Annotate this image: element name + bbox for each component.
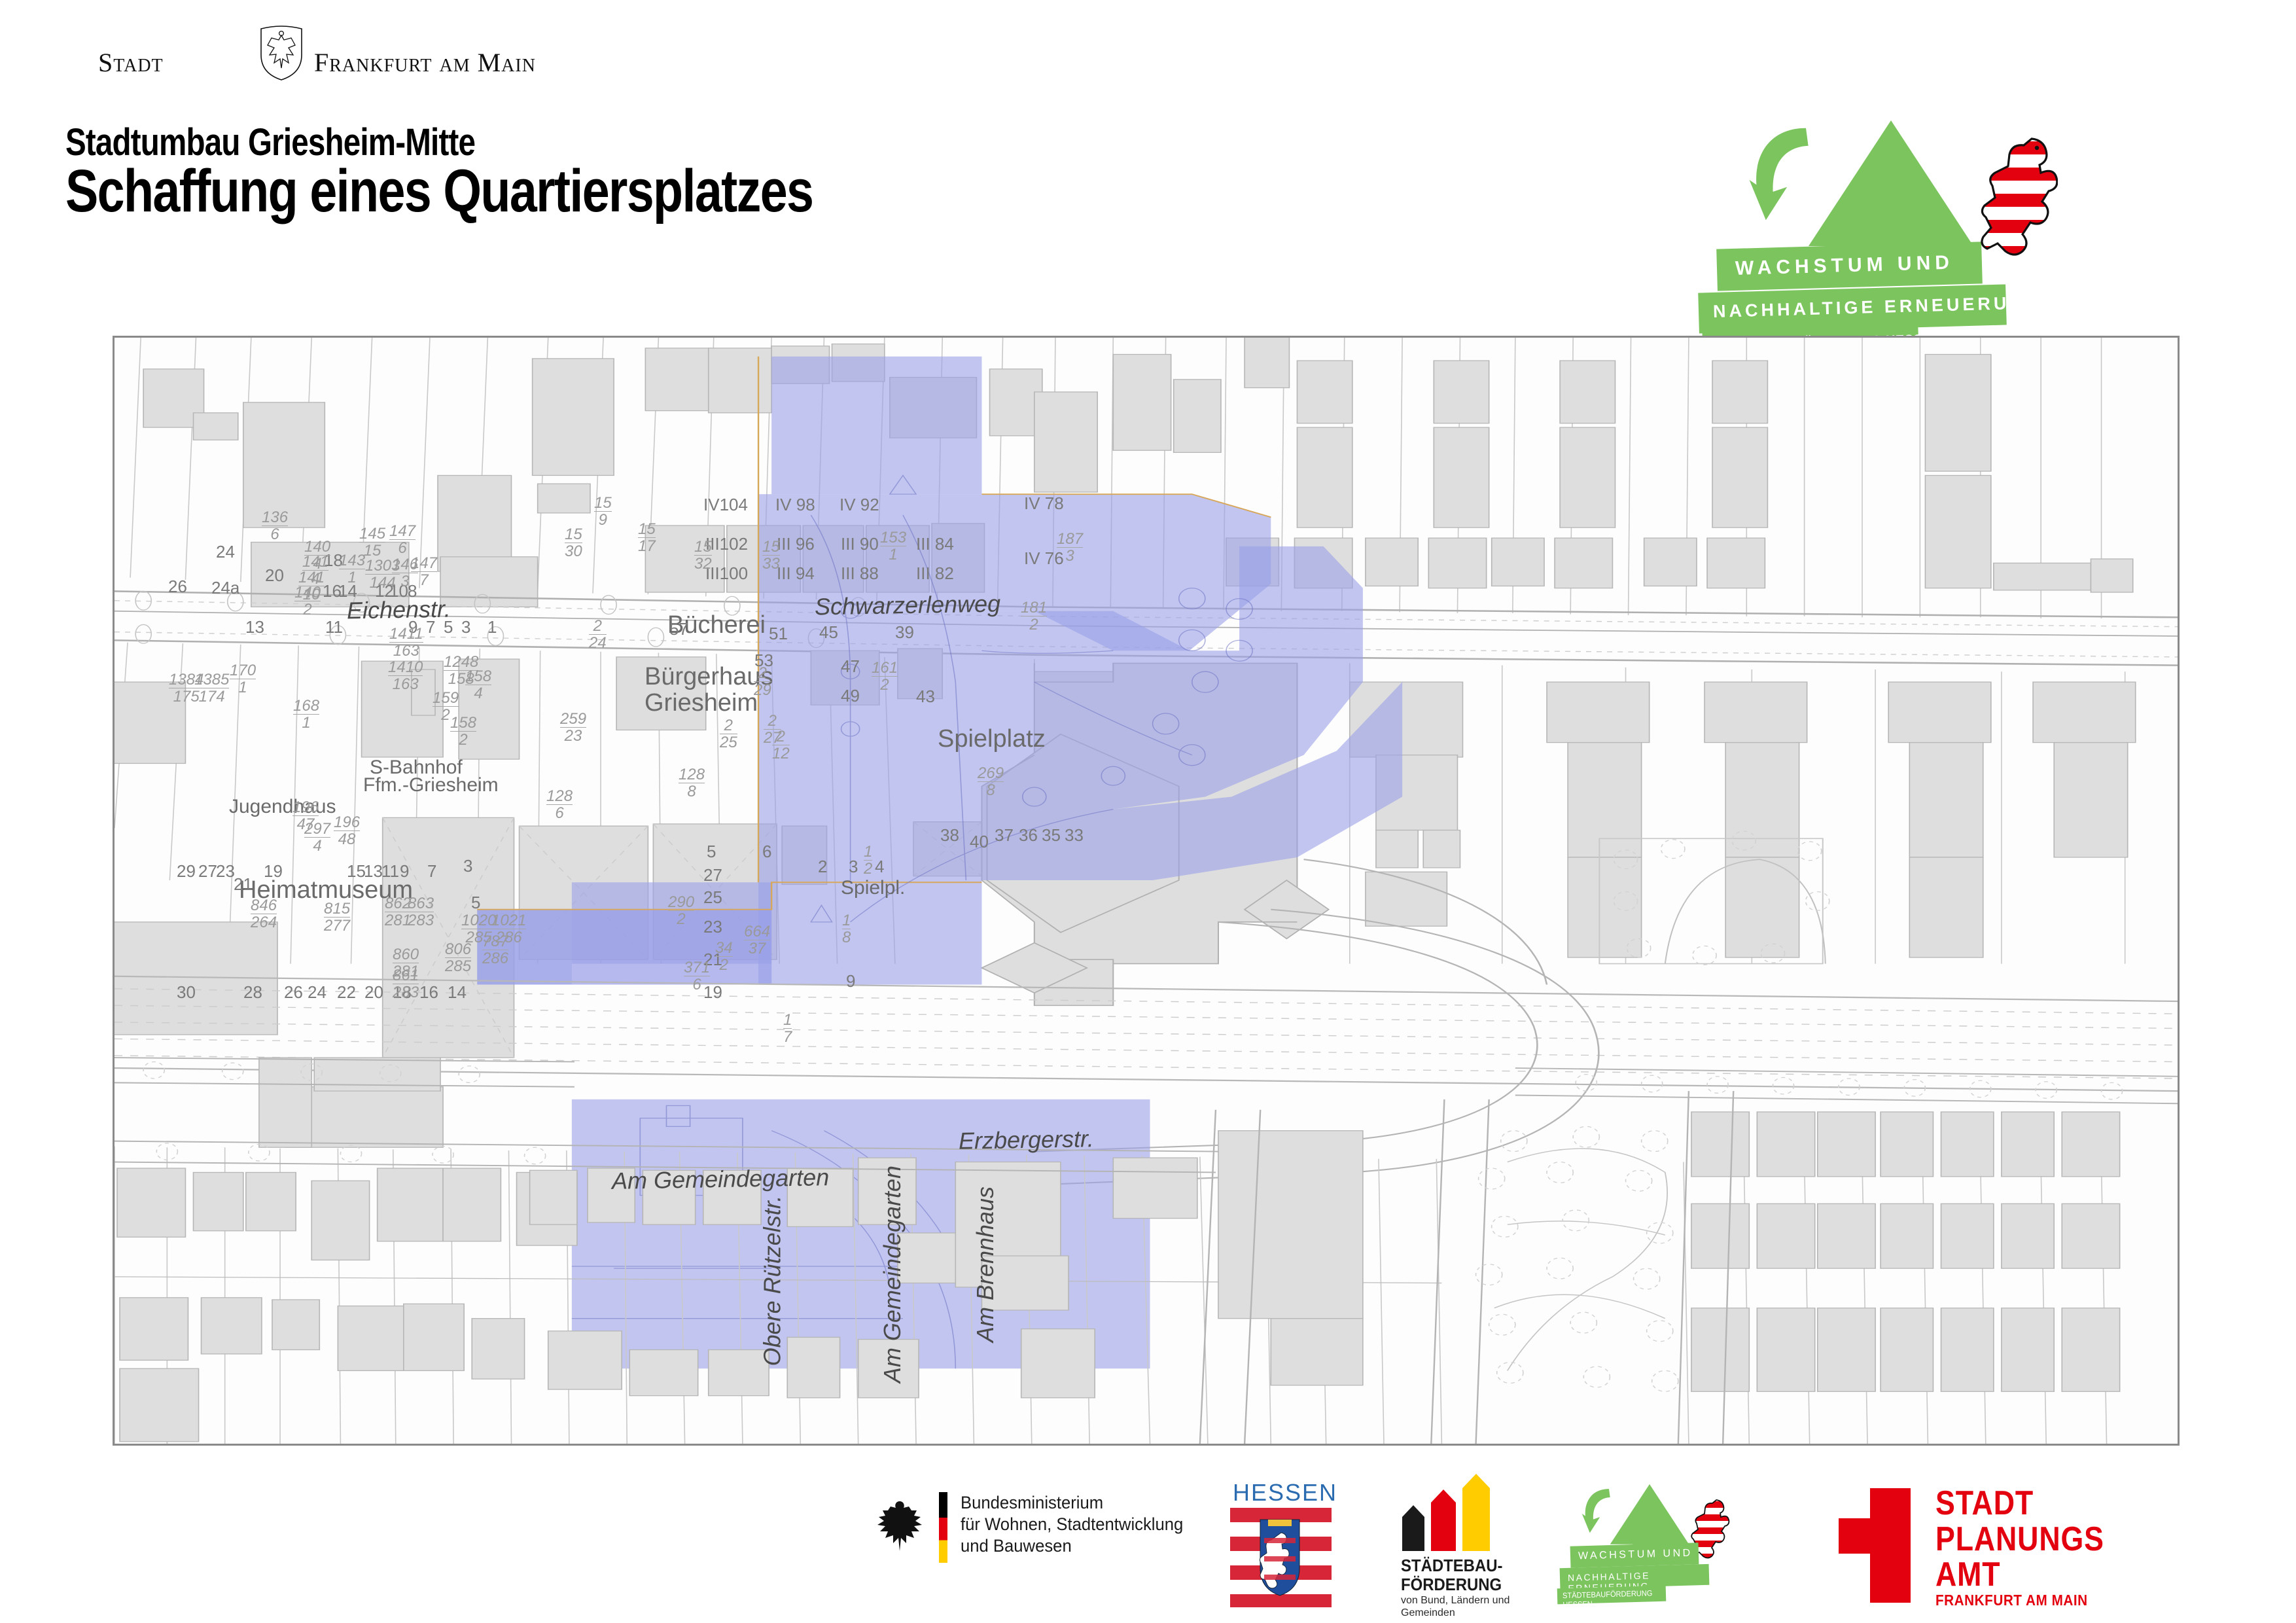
wachstum-band-2: NACHHALTIGE ERNEUERUNG (1698, 284, 2007, 333)
map-drawing (115, 338, 2178, 1444)
wachstum-band-1: WACHSTUM UND (1716, 241, 1983, 291)
staedtebau-line-1: STÄDTEBAU- (1401, 1556, 1502, 1575)
wachstum-footer-logo: WACHSTUM UND NACHHALTIGE ERNEUERUNG STÄD… (1577, 1482, 1786, 1613)
wachstum-footer-band-1: WACHSTUM UND (1570, 1543, 1699, 1567)
house-red-icon (1431, 1503, 1456, 1551)
staedtebaufoerderung-logo: STÄDTEBAU- FÖRDERUNG von Bund, Ländern u… (1397, 1479, 1561, 1610)
stadtplanungsamt-title: STADT PLANUNGS AMT (1935, 1486, 2104, 1593)
bm-line-3: und Bauwesen (961, 1535, 1183, 1557)
bm-line-1: Bundesministerium (961, 1492, 1183, 1514)
hessen-lion-icon (1979, 131, 2058, 262)
house-yellow-icon (1462, 1488, 1490, 1551)
german-flag-bar-icon (939, 1492, 947, 1563)
house-black-icon (1402, 1517, 1424, 1551)
federal-eagle-icon (874, 1499, 926, 1554)
wachstum-line2: NACHHALTIGE ERNEUERUNG (1713, 293, 2043, 322)
wf-line-1: WACHSTUM UND (1578, 1548, 1693, 1563)
staedtebau-sub-2: Gemeinden (1401, 1607, 1510, 1619)
city-logo-left-word: Stadt (98, 47, 164, 78)
frankfurt-eagle-icon (257, 24, 306, 81)
hessen-label: HESSEN (1233, 1479, 1337, 1507)
spa-line-2: PLANUNGS (1935, 1522, 2104, 1558)
wachstum-line1: WACHSTUM UND (1735, 252, 1954, 280)
staedtebau-line-2: FÖRDERUNG (1401, 1575, 1502, 1594)
spa-line-3: AMT (1935, 1557, 2104, 1593)
bundesministerium-text: Bundesministerium für Wohnen, Stadtentwi… (961, 1492, 1183, 1557)
staedtebau-title: STÄDTEBAU- FÖRDERUNG (1401, 1556, 1502, 1594)
staedtebau-sub-1: von Bund, Ländern und (1401, 1594, 1510, 1607)
wf-line-3: STÄDTEBAUFÖRDERUNG HESSEN (1563, 1588, 1658, 1609)
staedtebau-subtitle: von Bund, Ländern und Gemeinden (1401, 1594, 1510, 1619)
stadt-frankfurt-logo: Stadt Frankfurt am Main (98, 34, 517, 80)
bm-line-2: für Wohnen, Stadtentwicklung (961, 1514, 1183, 1535)
city-logo-right-word: Frankfurt am Main (314, 47, 536, 78)
wachstum-footer-band-3: STÄDTEBAUFÖRDERUNG HESSEN (1557, 1586, 1667, 1605)
hessen-lion-shield-icon (1259, 1518, 1301, 1597)
hessen-logo: HESSEN (1230, 1479, 1335, 1610)
spa-subtitle: FRANKFURT AM MAIN (1935, 1592, 2088, 1609)
spa-line-1: STADT (1935, 1486, 2104, 1522)
wachstum-footer-band-2: NACHHALTIGE ERNEUERUNG (1560, 1564, 1710, 1589)
stadtplanungsamt-logo: STADT PLANUNGS AMT FRANKFURT AM MAIN (1839, 1482, 2166, 1613)
stadtplanungsamt-mark-icon (1839, 1488, 1911, 1603)
cadastral-map[interactable]: Eichenstr.SchwarzerlenwegErzbergerstr.Am… (113, 336, 2180, 1446)
footer-logo-bar: Bundesministerium für Wohnen, Stadtentwi… (0, 1472, 2296, 1623)
page-title: Schaffung eines Quartiersplatzes (65, 157, 813, 226)
bundesministerium-logo: Bundesministerium für Wohnen, Stadtentwi… (874, 1484, 1227, 1569)
